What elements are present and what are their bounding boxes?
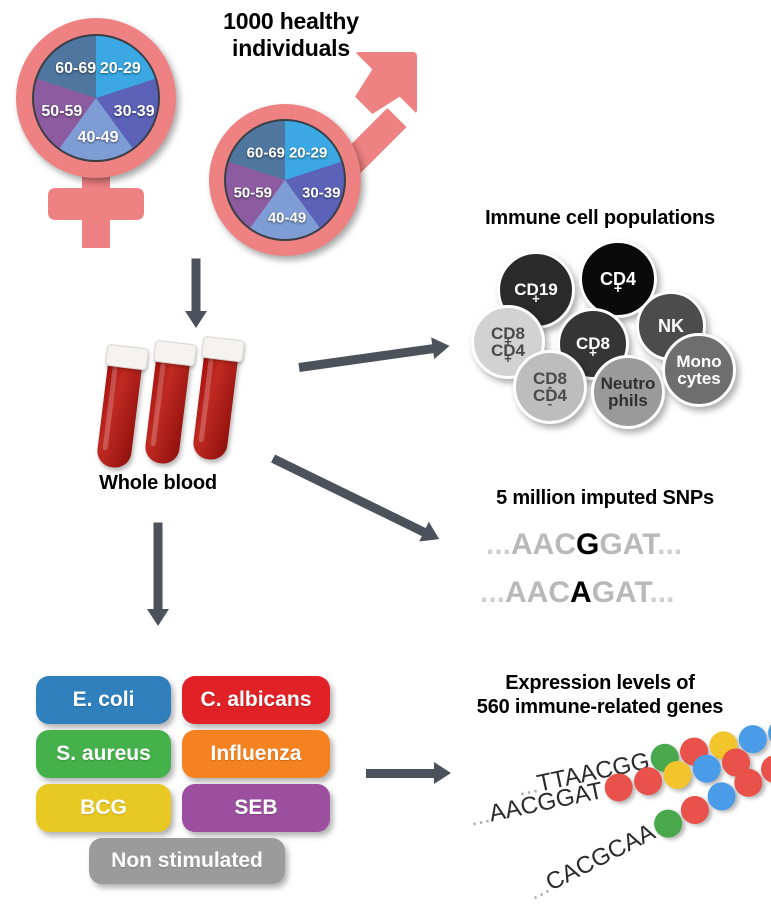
pie-slice-label-20-29: 20-29 (289, 144, 327, 161)
section-title-immune-cells: Immune cell populations (435, 207, 765, 231)
male-symbol: 20-2930-3940-4950-5960-69 (205, 60, 415, 255)
female-symbol: 20-2930-3940-4950-5960-69 (8, 14, 188, 254)
snp-variant-base: A (570, 576, 592, 609)
immune-cell-label: CD8+ (576, 335, 610, 352)
pie-slice-label-40-49: 40-49 (268, 210, 306, 227)
stimulation-s-aureus[interactable]: S. aureus (36, 730, 171, 778)
whole-blood-tubes (110, 340, 270, 480)
page-title-cohort: 1000 healthy individuals (176, 8, 406, 62)
female-age-pie: 20-2930-3940-4950-5960-69 (32, 34, 160, 162)
immune-cell-neutrophils[interactable]: Neutrophils (591, 355, 665, 429)
pie-slice-label-30-39: 30-39 (302, 185, 340, 202)
pie-slice-label-20-29: 20-29 (100, 60, 141, 78)
expression-title-line2: 560 immune-related genes (440, 696, 760, 720)
arrow-blood-to-immune (298, 343, 435, 371)
label-whole-blood: Whole blood (58, 472, 258, 496)
expression-strand-sequence: ...CACGCAA (524, 819, 660, 907)
expression-dot (766, 716, 771, 749)
pie-slice-label-50-59: 50-59 (234, 185, 272, 202)
immune-cell-label: CD8-CD4- (533, 370, 567, 405)
arrow-blood-to-immune-head (431, 335, 451, 359)
immune-cell-label: CD8+CD4+ (491, 325, 525, 360)
expression-title-line1: Expression levels of (440, 672, 760, 696)
stimulation-influenza[interactable]: Influenza (182, 730, 330, 778)
arrow-blood-to-stimuli-head (147, 609, 169, 626)
stimulation-bcg[interactable]: BCG (36, 784, 171, 832)
stimulation-seb[interactable]: SEB (182, 784, 330, 832)
immune-cell-monocytes[interactable]: Monocytes (662, 333, 736, 407)
stimulation-c-albicans[interactable]: C. albicans (182, 676, 330, 724)
pie-slice-label-40-49: 40-49 (78, 129, 119, 147)
pie-slice-label-30-39: 30-39 (114, 103, 155, 121)
stimulation-e-coli[interactable]: E. coli (36, 676, 171, 724)
immune-cell-label: Neutrophils (601, 375, 656, 410)
immune-cell-label: CD4+ (600, 270, 636, 288)
section-title-expression: Expression levels of 560 immune-related … (440, 672, 760, 719)
immune-cell-cd8-cd4[interactable]: CD8-CD4- (513, 350, 587, 424)
male-age-pie: 20-2930-3940-4950-5960-69 (224, 119, 346, 241)
pie-slice-label-50-59: 50-59 (41, 103, 82, 121)
expression-dot (602, 771, 635, 804)
immune-cell-label: CD19+ (514, 281, 557, 298)
arrow-stimuli-to-expression (366, 769, 436, 778)
arrow-blood-to-stimuli (154, 522, 163, 611)
female-cross-horizontal (48, 188, 144, 220)
immune-cell-label: NK (658, 317, 684, 335)
snp-sequence-group: ...AACGGAT......AACAGAT... (480, 528, 750, 626)
immune-cell-label: Monocytes (676, 353, 721, 388)
arrow-cohort-to-blood-head (185, 311, 207, 328)
snp-sequence-1: ...AACGGAT... (486, 528, 682, 562)
pie-slice-label-60-69: 60-69 (247, 144, 285, 161)
stimulation-non-stimulated[interactable]: Non stimulated (89, 838, 285, 884)
section-title-snps: 5 million imputed SNPs (455, 487, 755, 511)
snp-variant-base: G (576, 528, 599, 561)
expression-dot (690, 752, 723, 785)
arrow-blood-to-snp (271, 454, 428, 537)
snp-sequence-2: ...AACAGAT... (480, 576, 674, 610)
arrow-stimuli-to-expression-head (434, 762, 451, 784)
expression-dot (631, 765, 664, 798)
expression-dot (660, 758, 693, 791)
arrow-cohort-to-blood (192, 258, 201, 313)
pie-slice-label-60-69: 60-69 (55, 60, 96, 78)
